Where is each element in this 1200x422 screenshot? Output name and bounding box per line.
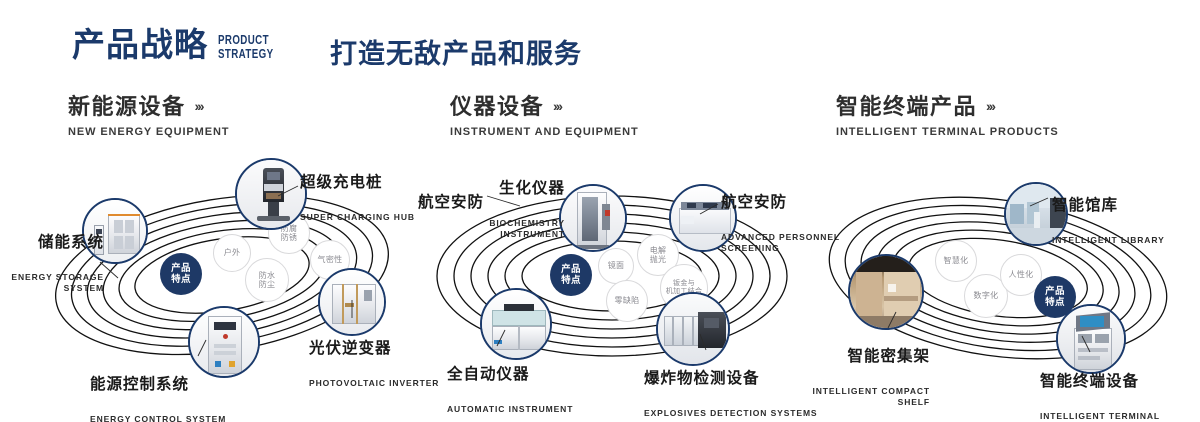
label-automatic-instrument: 全自动仪器 AUTOMATIC INSTRUMENT [447,348,573,422]
page-title-en: PRODUCT STRATEGY [218,33,273,61]
core-bubble-product-features[interactable]: 产品 特点 [160,253,202,295]
feature-bubble-intelligence[interactable]: 智慧化 [935,240,977,282]
label-cn: 智能馆库 [1052,197,1165,214]
label-en: ENERGY CONTROL SYSTEM [90,414,226,422]
chevron-right-icon: ››› [986,99,994,113]
core-bubble-product-features[interactable]: 产品 特点 [550,254,592,296]
node-super-charging-hub[interactable] [235,158,307,230]
label-en: SUPER CHARGING HUB [300,212,415,223]
label-en: INTELLIGENT LIBRARY [1052,235,1165,246]
label-intelligent-terminal-equipment: 智能终端设备 INTELLIGENT TERMINAL EQUIPMENT [1040,355,1200,422]
chevron-right-icon: ››› [195,99,203,113]
label-cn: 储能系统 [0,234,104,251]
label-biochemistry-instrument: 生化仪器 BIOCHEMISTRY INSTRUMENT [470,162,565,257]
label-en: PHOTOVOLTAIC INVERTER [309,378,439,389]
section-heading-instrument: 仪器设备››› INSTRUMENT AND EQUIPMENT [450,96,639,138]
feature-bubble-zero-defect[interactable]: 零缺陷 [606,280,648,322]
label-super-charging-hub: 超级充电桩 SUPER CHARGING HUB [300,156,415,241]
label-cn: 智能终端设备 [1040,373,1200,390]
label-explosives-detection-systems: 爆炸物检测设备 EXPLOSIVES DETECTION SYSTEMS [644,352,818,422]
section-heading-en: INSTRUMENT AND EQUIPMENT [450,126,639,138]
section-heading-cn: 新能源设备››› [68,96,229,118]
section-heading-new-energy: 新能源设备››› NEW ENERGY EQUIPMENT [68,96,229,138]
label-cn: 爆炸物检测设备 [644,370,818,387]
label-cn: 生化仪器 [470,180,565,197]
label-en: BIOCHEMISTRY INSTRUMENT [470,218,565,239]
section-heading-en: NEW ENERGY EQUIPMENT [68,126,229,138]
label-intelligent-compact-shelf: 智能密集架 INTELLIGENT COMPACT SHELF [800,330,930,422]
label-photovoltaic-inverter: 光伏逆变器 PHOTOVOLTAIC INVERTER [309,322,439,407]
label-cn: 智能密集架 [800,348,930,365]
node-biochemistry-instrument[interactable] [559,184,627,252]
label-en: INTELLIGENT COMPACT SHELF [800,386,930,407]
feature-bubble-outdoor[interactable]: 户外 [213,234,251,272]
label-energy-control-system: 能源控制系统 ENERGY CONTROL SYSTEM [90,358,226,422]
label-en: AUTOMATIC INSTRUMENT [447,404,573,415]
feature-bubble-waterproof[interactable]: 防水 防尘 [245,258,289,302]
label-intelligent-library: 智能馆库 INTELLIGENT LIBRARY [1052,179,1165,264]
label-cn: 光伏逆变器 [309,340,439,357]
product-strategy-infographic: 产品战略 PRODUCT STRATEGY 打造无敌产品和服务 新能源设备›››… [0,0,1200,422]
label-en: INTELLIGENT TERMINAL EQUIPMENT [1040,411,1200,422]
section-heading-cn: 仪器设备››› [450,96,639,118]
label-cn: 全自动仪器 [447,366,573,383]
feature-bubble-mirror-finish[interactable]: 镜面 [598,248,634,284]
label-en: ENERGY STORAGE SYSTEM [0,272,104,293]
label-en: EXPLOSIVES DETECTION SYSTEMS [644,408,818,419]
chevron-right-icon: ››› [553,99,561,113]
section-heading-cn: 智能终端产品››› [836,96,1059,118]
node-intelligent-compact-shelf[interactable] [848,254,924,330]
label-cn: 能源控制系统 [90,376,226,393]
page-subtitle: 打造无敌产品和服务 [330,32,582,71]
page-title-cn: 产品战略 [72,28,208,61]
label-cn: 超级充电桩 [300,174,415,191]
section-heading-en: INTELLIGENT TERMINAL PRODUCTS [836,126,1059,138]
section-heading-terminal: 智能终端产品››› INTELLIGENT TERMINAL PRODUCTS [836,96,1059,138]
label-energy-storage-system: 储能系统 ENERGY STORAGE SYSTEM [0,216,104,311]
